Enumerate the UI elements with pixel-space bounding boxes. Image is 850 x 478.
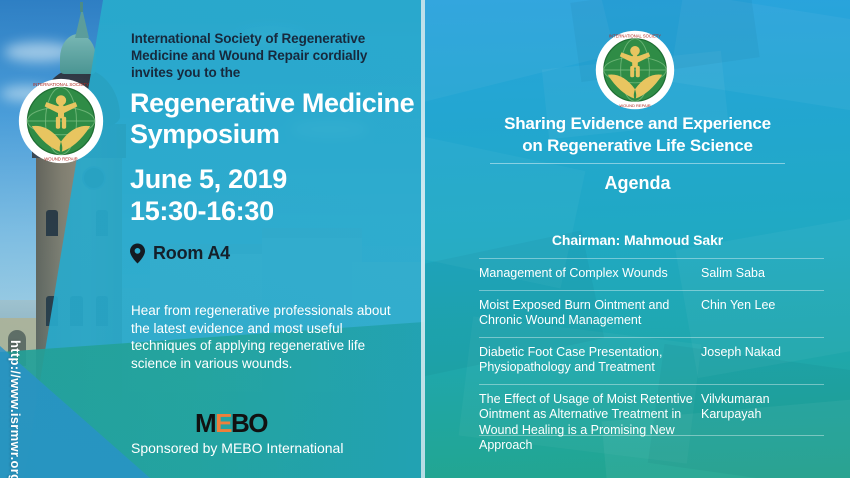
sponsor-text: Sponsored by MEBO International (131, 440, 421, 456)
location-pin-icon (130, 243, 145, 264)
agenda-speaker: Joseph Nakad (701, 345, 824, 361)
right-heading: Sharing Evidence and Experience on Regen… (455, 113, 820, 157)
agenda-speaker: Vilvkumaran Karupayah (701, 392, 824, 423)
left-content: INTERNATIONAL SOCIETY WOUND REPAIR http:… (0, 0, 424, 478)
mebo-logo-small: MEBO (195, 410, 267, 436)
agenda-topic: Management of Complex Wounds (479, 266, 701, 282)
agenda-bottom-divider (479, 435, 824, 436)
website-url[interactable]: http://www.isrmwr.org (8, 340, 23, 478)
left-panel: INTERNATIONAL SOCIETY WOUND REPAIR http:… (0, 0, 424, 478)
isrmwr-seal-icon: INTERNATIONAL SOCIETY WOUND REPAIR (18, 78, 104, 164)
right-heading-line2: on Regenerative Life Science (455, 135, 820, 157)
room-label: Room A4 (153, 243, 230, 264)
agenda-topic: The Effect of Usage of Moist Retentive O… (479, 392, 701, 454)
agenda-speaker: Chin Yen Lee (701, 298, 824, 314)
chairman-label: Chairman: Mahmoud Sakr (455, 232, 820, 248)
agenda-row: Management of Complex WoundsSalim Saba (479, 258, 824, 290)
agenda-row: Diabetic Foot Case Presentation, Physiop… (479, 337, 824, 384)
agenda-row: The Effect of Usage of Moist Retentive O… (479, 384, 824, 462)
right-heading-line1: Sharing Evidence and Experience (455, 113, 820, 135)
agenda-row: Moist Exposed Burn Ointment and Chronic … (479, 290, 824, 337)
event-date: June 5, 2019 (130, 163, 420, 195)
svg-text:WOUND REPAIR: WOUND REPAIR (44, 157, 78, 162)
agenda-topic: Diabetic Foot Case Presentation, Physiop… (479, 345, 701, 376)
event-time: 15:30-16:30 (130, 195, 420, 227)
isrmwr-seal-icon: INTERNATIONAL SOCIETY WOUND REPAIR (595, 30, 675, 110)
agenda-topic: Moist Exposed Burn Ointment and Chronic … (479, 298, 701, 329)
event-datetime: June 5, 2019 15:30-16:30 (130, 163, 420, 227)
svg-text:WOUND REPAIR: WOUND REPAIR (619, 103, 650, 108)
invitation-text: International Society of Regenerative Me… (131, 30, 411, 81)
heading-divider (490, 163, 785, 164)
svg-text:INTERNATIONAL SOCIETY: INTERNATIONAL SOCIETY (609, 34, 661, 39)
svg-text:INTERNATIONAL SOCIETY: INTERNATIONAL SOCIETY (33, 82, 89, 87)
agenda-label: Agenda (455, 173, 820, 194)
mebo-logo-suffix: BO (231, 408, 267, 438)
mebo-logo-prefix: M (195, 408, 215, 438)
event-poster: INTERNATIONAL SOCIETY WOUND REPAIR http:… (0, 0, 850, 478)
room-row: Room A4 (130, 243, 230, 264)
agenda-table: Management of Complex WoundsSalim SabaMo… (479, 258, 824, 462)
mebo-logo-accent: E (215, 408, 231, 438)
event-title: Regenerative Medicine Symposium (130, 88, 420, 150)
event-description: Hear from regenerative professionals abo… (131, 302, 409, 372)
agenda-speaker: Salim Saba (701, 266, 824, 282)
